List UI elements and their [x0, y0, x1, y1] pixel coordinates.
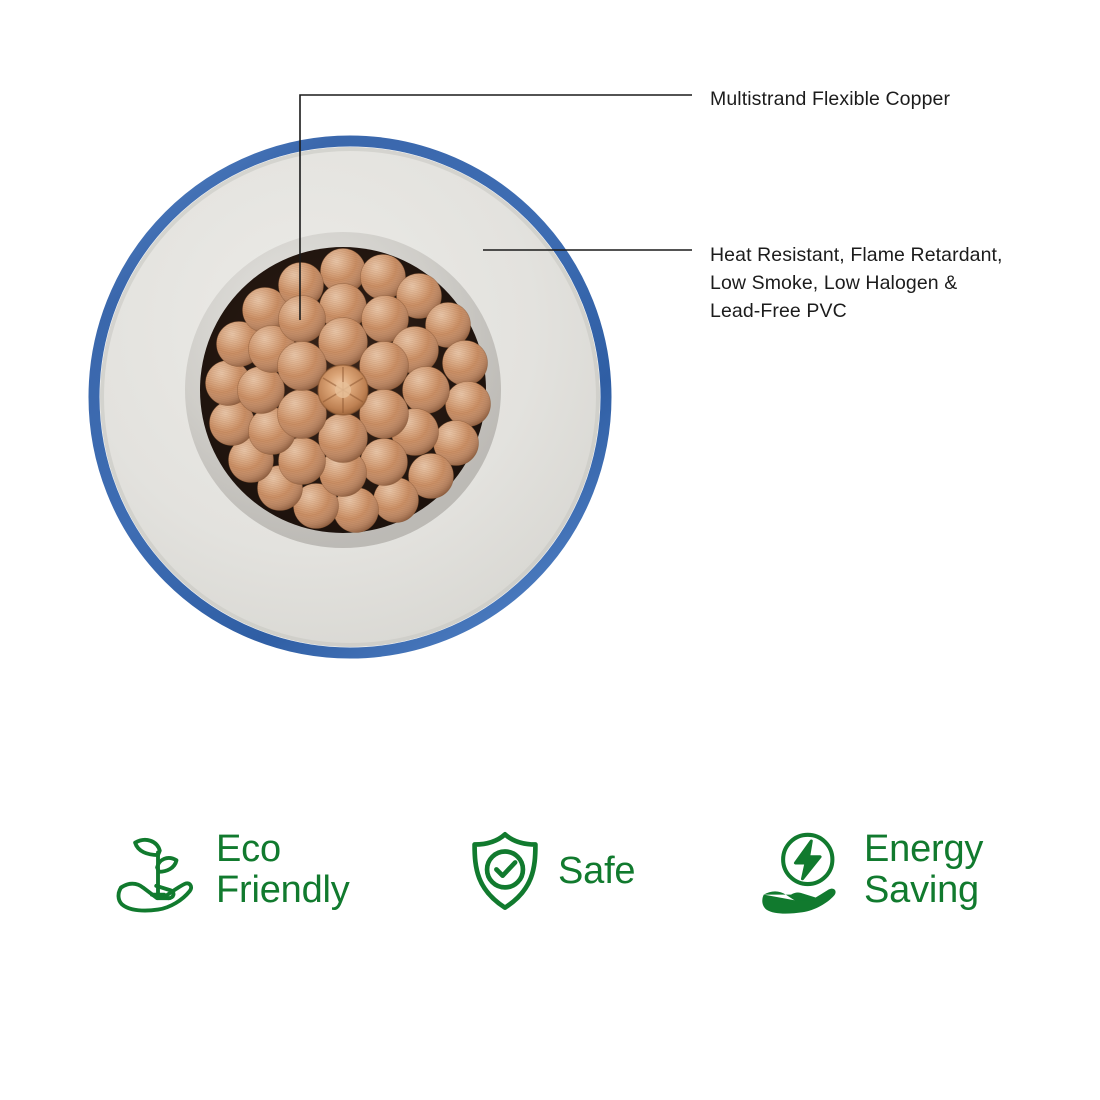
badge-label-energy-saving: Energy Saving: [864, 829, 983, 911]
badge-label-eco-friendly: Eco Friendly: [216, 829, 350, 911]
hand-sprout-icon: [114, 826, 202, 914]
hand-lightning-icon: [762, 826, 850, 914]
callout-label-pvc: Heat Resistant, Flame Retardant, Low Smo…: [710, 241, 1003, 325]
callout-label-copper: Multistrand Flexible Copper: [710, 85, 950, 113]
shield-check-icon: [466, 830, 544, 912]
badge-label-safe: Safe: [558, 851, 635, 892]
feature-badges: Eco Friendly Safe: [0, 818, 1100, 938]
badge-eco-friendly[interactable]: Eco Friendly: [114, 826, 350, 914]
diagram-canvas: Multistrand Flexible Copper Heat Resista…: [0, 0, 1100, 1100]
cable-cross-section: [85, 132, 615, 662]
badge-energy-saving[interactable]: Energy Saving: [762, 826, 983, 914]
cable-cross-section-svg: [85, 132, 615, 662]
badge-safe[interactable]: Safe: [466, 830, 635, 912]
strand-center: [318, 365, 368, 415]
